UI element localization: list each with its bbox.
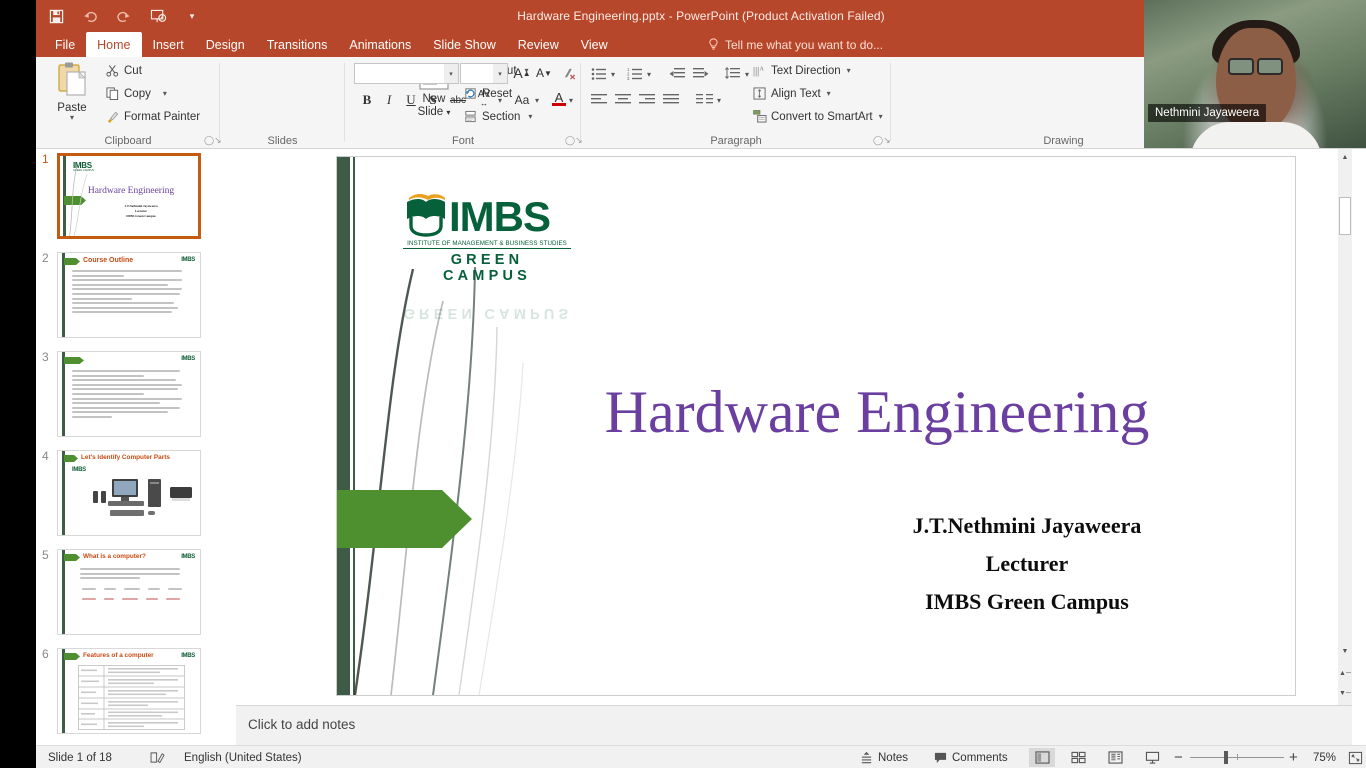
character-spacing-caret[interactable]: ▾ bbox=[498, 97, 502, 105]
slide-thumbnail-pane[interactable]: 1 IMBS GREEN CAMPUS Hardware Engineering… bbox=[36, 149, 216, 745]
zoom-level-label[interactable]: 75% bbox=[1313, 746, 1336, 768]
slide-title[interactable]: Hardware Engineering bbox=[547, 382, 1207, 442]
ribbon-group-clipboard: Paste ▾ Cut Copy ▾ Format Painter Clipbo… bbox=[36, 57, 220, 149]
thumbnail-slide-6[interactable]: 6 Features of a computer IMBS bbox=[36, 646, 216, 745]
previous-slide-button[interactable]: ▲─ bbox=[1338, 665, 1352, 681]
group-label-clipboard: Clipboard bbox=[36, 135, 220, 147]
increase-indent-button[interactable] bbox=[691, 65, 711, 83]
text-direction-button[interactable]: |||A Text Direction ▾ bbox=[753, 64, 851, 77]
align-text-label: Align Text bbox=[771, 88, 821, 100]
format-painter-label: Format Painter bbox=[124, 111, 200, 123]
tab-view[interactable]: View bbox=[570, 32, 619, 57]
thumbnail-number-1: 1 bbox=[42, 152, 49, 166]
thumbnail-preview-1: IMBS GREEN CAMPUS Hardware Engineering J… bbox=[57, 153, 201, 239]
tell-me-search[interactable]: Tell me what you want to do... bbox=[708, 32, 883, 57]
fit-to-window-button[interactable] bbox=[1348, 746, 1363, 768]
paste-button[interactable]: Paste ▾ bbox=[48, 61, 96, 122]
paste-dropdown-caret[interactable]: ▾ bbox=[48, 114, 96, 122]
justify-button[interactable] bbox=[661, 91, 681, 109]
thumbnail-number-4: 4 bbox=[42, 449, 49, 463]
tell-me-label: Tell me what you want to do... bbox=[725, 38, 883, 52]
increase-font-size-button[interactable]: A▲ bbox=[513, 63, 531, 83]
tab-review[interactable]: Review bbox=[507, 32, 570, 57]
scissors-icon bbox=[106, 64, 119, 77]
thumbnail-title-5: What is a computer? bbox=[83, 553, 146, 560]
undo-icon[interactable] bbox=[80, 6, 100, 26]
group-label-font: Font bbox=[345, 135, 581, 147]
font-color-caret[interactable]: ▾ bbox=[569, 97, 573, 105]
tab-animations[interactable]: Animations bbox=[338, 32, 422, 57]
clear-formatting-button[interactable] bbox=[560, 63, 578, 83]
align-center-button[interactable] bbox=[613, 91, 633, 109]
paste-icon bbox=[55, 61, 89, 101]
change-case-caret[interactable]: ▾ bbox=[535, 97, 539, 105]
reading-view-button[interactable] bbox=[1102, 748, 1128, 767]
format-painter-button[interactable]: Format Painter bbox=[106, 110, 200, 123]
powerpoint-window: Hardware Engineering.pptx - PowerPoint (… bbox=[0, 0, 1366, 768]
thumbnail-preview-6: Features of a computer IMBS bbox=[57, 648, 201, 734]
comments-icon bbox=[934, 751, 947, 764]
ribbon-group-slides: New Slide ▾ Layout ▾ Reset Section ▾ Sli… bbox=[220, 57, 345, 149]
convert-to-smartart-button[interactable]: Convert to SmartArt ▾ bbox=[753, 110, 883, 123]
thumbnail-slide-4[interactable]: 4 Let's Identify Computer Parts IMBS bbox=[36, 448, 216, 547]
thumbnail-table bbox=[78, 665, 188, 731]
slide-editing-stage: IMBS INSTITUTE OF MANAGEMENT & BUSINESS … bbox=[236, 149, 1352, 705]
group-label-slides: Slides bbox=[220, 135, 345, 147]
paragraph-dialog-launcher[interactable]: ◯↘ bbox=[873, 135, 891, 146]
ribbon-group-font: ▾ ▾ A▲ A▼ B I U S abc AV↔ ▾ Aa ▾ A bbox=[345, 57, 581, 149]
imbs-campus: GREEN CAMPUS bbox=[403, 252, 571, 284]
status-bar: Slide 1 of 18 English (United States) No… bbox=[36, 745, 1366, 768]
thumbnail-slide-2[interactable]: 2 Course Outline IMBS bbox=[36, 250, 216, 349]
normal-view-button[interactable] bbox=[1029, 748, 1055, 767]
bullets-button[interactable] bbox=[589, 65, 609, 83]
letterbox-left bbox=[0, 0, 36, 768]
tab-slide-show[interactable]: Slide Show bbox=[422, 32, 507, 57]
zoom-out-button[interactable]: − bbox=[1174, 746, 1183, 768]
slideshow-button[interactable] bbox=[1139, 748, 1165, 767]
thumbnail-slide-3[interactable]: 3 IMBS bbox=[36, 349, 216, 448]
scroll-down-button[interactable]: ▼ bbox=[1338, 643, 1352, 659]
change-case-button[interactable]: Aa bbox=[510, 90, 534, 110]
subtitle-line-1: J.T.Nethmini Jayaweera bbox=[827, 507, 1227, 545]
smartart-icon bbox=[753, 110, 767, 123]
imbs-logo: IMBS INSTITUTE OF MANAGEMENT & BUSINESS … bbox=[401, 189, 601, 284]
imbs-full-name: INSTITUTE OF MANAGEMENT & BUSINESS STUDI… bbox=[403, 240, 571, 249]
zoom-slider-tick bbox=[1237, 754, 1238, 760]
notes-placeholder: Click to add notes bbox=[248, 717, 355, 732]
align-left-button[interactable] bbox=[589, 91, 609, 109]
subtitle-line-3: IMBS Green Campus bbox=[827, 583, 1227, 621]
tab-insert[interactable]: Insert bbox=[142, 32, 195, 57]
cut-label: Cut bbox=[124, 65, 142, 77]
font-size-caret[interactable]: ▾ bbox=[493, 64, 507, 83]
scroll-up-button[interactable]: ▲ bbox=[1338, 149, 1352, 165]
thumbnail-preview-3: IMBS bbox=[57, 351, 201, 437]
slide-subtitle[interactable]: J.T.Nethmini Jayaweera Lecturer IMBS Gre… bbox=[827, 507, 1227, 620]
tab-design[interactable]: Design bbox=[195, 32, 256, 57]
font-name-input[interactable]: ▾ bbox=[354, 63, 459, 84]
save-icon[interactable] bbox=[46, 6, 66, 26]
slide-sorter-button[interactable] bbox=[1065, 748, 1091, 767]
thumbnail-number-5: 5 bbox=[42, 548, 49, 562]
numbering-button[interactable]: 123 bbox=[625, 65, 645, 83]
smartart-caret[interactable]: ▾ bbox=[879, 113, 883, 121]
thumbnail-number-6: 6 bbox=[42, 647, 49, 661]
font-size-input[interactable]: ▾ bbox=[460, 63, 508, 84]
text-direction-label: Text Direction bbox=[771, 65, 841, 77]
comments-button-label: Comments bbox=[952, 752, 1008, 764]
clear-formatting-icon bbox=[562, 66, 577, 81]
columns-button[interactable] bbox=[693, 91, 715, 109]
group-label-paragraph: Paragraph bbox=[581, 135, 891, 147]
align-right-button[interactable] bbox=[637, 91, 657, 109]
text-shadow-button[interactable]: S bbox=[424, 90, 442, 110]
quick-access-toolbar: ▾ bbox=[46, 0, 202, 32]
tab-home[interactable]: Home bbox=[86, 32, 141, 57]
current-slide[interactable]: IMBS INSTITUTE OF MANAGEMENT & BUSINESS … bbox=[336, 156, 1296, 696]
bold-button[interactable]: B bbox=[358, 90, 376, 110]
character-spacing-button[interactable]: AV↔ bbox=[471, 88, 497, 110]
thumbnail-title-2: Course Outline bbox=[83, 257, 133, 264]
slide-grass-decoration bbox=[347, 267, 577, 696]
scroll-thumb[interactable] bbox=[1339, 197, 1351, 235]
align-text-caret[interactable]: ▾ bbox=[827, 90, 831, 98]
thumbnail-computer-images bbox=[90, 477, 194, 529]
customize-qat-icon[interactable]: ▾ bbox=[182, 6, 202, 26]
text-direction-caret[interactable]: ▾ bbox=[847, 67, 851, 75]
notes-pane[interactable]: Click to add notes bbox=[236, 705, 1352, 745]
notes-icon bbox=[860, 751, 873, 764]
text-direction-icon: |||A bbox=[753, 64, 767, 77]
slide-counter[interactable]: Slide 1 of 18 bbox=[48, 746, 112, 768]
tab-transitions[interactable]: Transitions bbox=[256, 32, 339, 57]
font-name-caret[interactable]: ▾ bbox=[444, 64, 458, 83]
slide-vertical-scrollbar[interactable]: ▲ ▼ ▲─ ▼─ bbox=[1338, 149, 1352, 705]
underline-button[interactable]: U bbox=[402, 90, 420, 110]
svg-text:3: 3 bbox=[627, 76, 630, 81]
ribbon-group-paragraph: ▾ 123 ▾ ▾ bbox=[581, 57, 891, 149]
copy-icon bbox=[106, 87, 119, 100]
svg-text:|||: ||| bbox=[753, 66, 759, 77]
convert-to-smartart-label: Convert to SmartArt bbox=[771, 111, 873, 123]
notes-button[interactable]: Notes bbox=[860, 746, 908, 768]
imbs-book-icon bbox=[401, 189, 447, 237]
italic-button[interactable]: I bbox=[380, 90, 398, 110]
comments-button[interactable]: Comments bbox=[934, 746, 1008, 768]
next-slide-button[interactable]: ▼─ bbox=[1338, 685, 1352, 701]
webcam-glasses-left bbox=[1228, 58, 1254, 75]
thumbnail-number-2: 2 bbox=[42, 251, 49, 265]
decrease-indent-button[interactable] bbox=[667, 65, 687, 83]
thumbnail-title-4: Let's Identify Computer Parts bbox=[81, 454, 170, 461]
thumbnail-title-6: Features of a computer bbox=[83, 652, 154, 659]
lightbulb-icon bbox=[708, 38, 719, 51]
line-spacing-caret[interactable]: ▾ bbox=[745, 71, 749, 79]
slide-green-arrow bbox=[337, 490, 472, 548]
paintbrush-icon bbox=[106, 110, 119, 123]
cut-button[interactable]: Cut bbox=[106, 64, 142, 77]
start-presentation-icon[interactable] bbox=[148, 6, 168, 26]
font-color-button[interactable]: A bbox=[550, 88, 568, 110]
copy-button[interactable]: Copy ▾ bbox=[106, 87, 167, 100]
thumbnail-preview-2: Course Outline IMBS bbox=[57, 252, 201, 338]
zoom-in-button[interactable]: + bbox=[1289, 746, 1298, 768]
columns-caret[interactable]: ▾ bbox=[717, 97, 721, 105]
strikethrough-button[interactable]: abc bbox=[446, 90, 470, 110]
align-text-button[interactable]: Align Text ▾ bbox=[753, 87, 831, 100]
copy-dropdown-caret[interactable]: ▾ bbox=[163, 90, 167, 98]
imbs-campus-reflection: GREEN CAMPUS bbox=[403, 305, 573, 321]
notes-button-label: Notes bbox=[878, 752, 908, 764]
thumbnail-slide-1[interactable]: 1 IMBS GREEN CAMPUS Hardware Engineering… bbox=[36, 151, 216, 250]
thumbnail-preview-5: What is a computer? IMBS bbox=[57, 549, 201, 635]
redo-icon[interactable] bbox=[114, 6, 134, 26]
svg-text:A: A bbox=[760, 67, 765, 73]
line-spacing-button[interactable] bbox=[723, 65, 743, 83]
subtitle-line-2: Lecturer bbox=[827, 545, 1227, 583]
webcam-overlay: Nethmini Jayaweera bbox=[1144, 0, 1366, 148]
language-indicator[interactable]: English (United States) bbox=[184, 746, 302, 768]
main-work-area: 1 IMBS GREEN CAMPUS Hardware Engineering… bbox=[36, 149, 1366, 745]
participant-name-label: Nethmini Jayaweera bbox=[1148, 104, 1266, 122]
numbering-caret[interactable]: ▾ bbox=[647, 71, 651, 79]
webcam-glasses-right bbox=[1257, 58, 1283, 75]
spell-check-icon[interactable] bbox=[150, 746, 166, 768]
thumbnail-preview-4: Let's Identify Computer Parts IMBS bbox=[57, 450, 201, 536]
imbs-acronym: IMBS bbox=[449, 198, 550, 237]
zoom-slider-handle[interactable] bbox=[1224, 751, 1228, 764]
copy-label: Copy bbox=[124, 88, 151, 100]
align-text-icon bbox=[753, 87, 767, 100]
bullets-caret[interactable]: ▾ bbox=[611, 71, 615, 79]
thumbnail-slide-5[interactable]: 5 What is a computer? IMBS bbox=[36, 547, 216, 646]
tab-file[interactable]: File bbox=[44, 32, 86, 57]
thumbnail-number-3: 3 bbox=[42, 350, 49, 364]
decrease-font-size-button[interactable]: A▼ bbox=[535, 63, 553, 83]
